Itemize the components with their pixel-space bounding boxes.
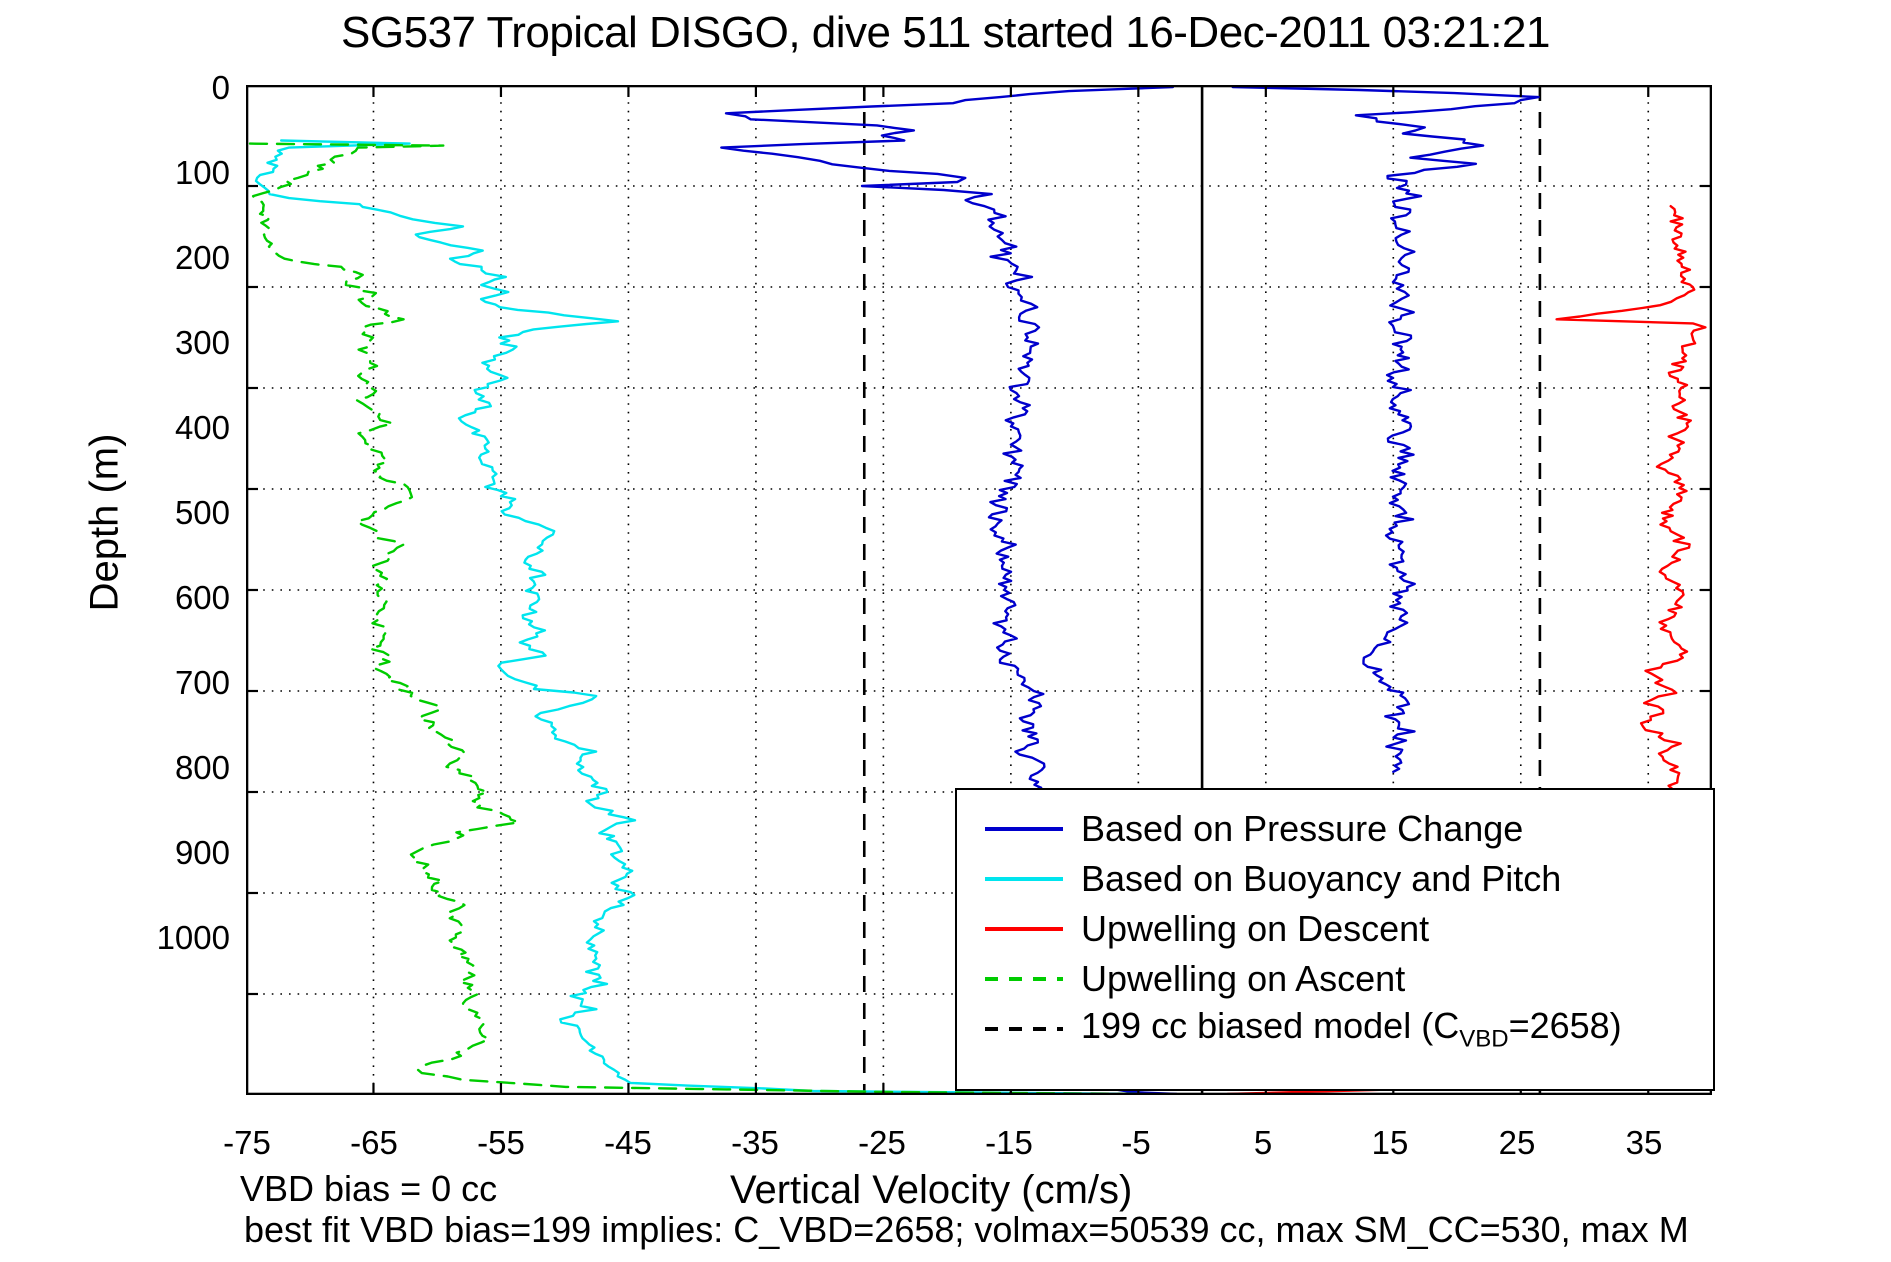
y-tick-label: 1000	[110, 919, 230, 957]
x-tick-label: -35	[700, 1124, 810, 1162]
x-tick-label: -15	[954, 1124, 1064, 1162]
legend-swatch-line-icon	[985, 927, 1063, 931]
page-title: SG537 Tropical DISGO, dive 511 started 1…	[0, 8, 1891, 58]
legend-label-subscript: VBD	[1459, 1025, 1508, 1052]
x-tick-label: 5	[1208, 1124, 1318, 1162]
legend-label-post: =2658)	[1509, 1005, 1622, 1046]
x-axis-label: Vertical Velocity (cm/s)	[730, 1168, 1132, 1213]
legend-item-upwelling-ascent[interactable]: Upwelling on Ascent	[985, 954, 1405, 1004]
x-tick-label: -65	[319, 1124, 429, 1162]
y-tick-label: 100	[110, 154, 230, 192]
x-tick-label: -75	[192, 1124, 302, 1162]
x-tick-label: 35	[1589, 1124, 1699, 1162]
legend-swatch-dashed-icon	[985, 1027, 1063, 1031]
vbd-bias-annotation: VBD bias = 0 cc	[240, 1168, 497, 1210]
x-tick-label: -5	[1081, 1124, 1191, 1162]
x-tick-label: 25	[1462, 1124, 1572, 1162]
x-tick-label: -25	[827, 1124, 937, 1162]
legend-swatch-line-icon	[985, 877, 1063, 881]
legend: Based on Pressure Change Based on Buoyan…	[955, 788, 1715, 1091]
x-tick-label: 15	[1335, 1124, 1445, 1162]
legend-item-upwelling-descent[interactable]: Upwelling on Descent	[985, 904, 1429, 954]
y-tick-label: 700	[110, 664, 230, 702]
legend-label: Upwelling on Ascent	[1081, 958, 1405, 1000]
legend-item-buoyancy-pitch[interactable]: Based on Buoyancy and Pitch	[985, 854, 1561, 904]
legend-label: Based on Pressure Change	[1081, 808, 1523, 850]
x-tick-label: -45	[573, 1124, 683, 1162]
legend-swatch-dashed-icon	[985, 977, 1063, 981]
y-tick-label: 800	[110, 749, 230, 787]
figure-root: SG537 Tropical DISGO, dive 511 started 1…	[0, 0, 1891, 1262]
y-tick-label: 600	[110, 579, 230, 617]
y-tick-label: 400	[110, 409, 230, 447]
legend-label: Upwelling on Descent	[1081, 908, 1429, 950]
series-line	[1233, 87, 1539, 772]
y-tick-label: 200	[110, 239, 230, 277]
legend-item-pressure-change[interactable]: Based on Pressure Change	[985, 804, 1523, 854]
legend-label: Based on Buoyancy and Pitch	[1081, 858, 1561, 900]
legend-label-pre: 199 cc biased model (C	[1081, 1005, 1459, 1046]
legend-swatch-line-icon	[985, 827, 1063, 831]
y-tick-label: 500	[110, 494, 230, 532]
y-tick-label: 900	[110, 834, 230, 872]
best-fit-annotation: best fit VBD bias=199 implies: C_VBD=265…	[244, 1209, 1689, 1251]
y-tick-label: 300	[110, 324, 230, 362]
legend-item-biased-model[interactable]: 199 cc biased model (CVBD=2658)	[985, 1004, 1622, 1054]
legend-label: 199 cc biased model (CVBD=2658)	[1081, 1005, 1622, 1053]
y-tick-label: 0	[110, 69, 230, 107]
x-tick-label: -55	[446, 1124, 556, 1162]
